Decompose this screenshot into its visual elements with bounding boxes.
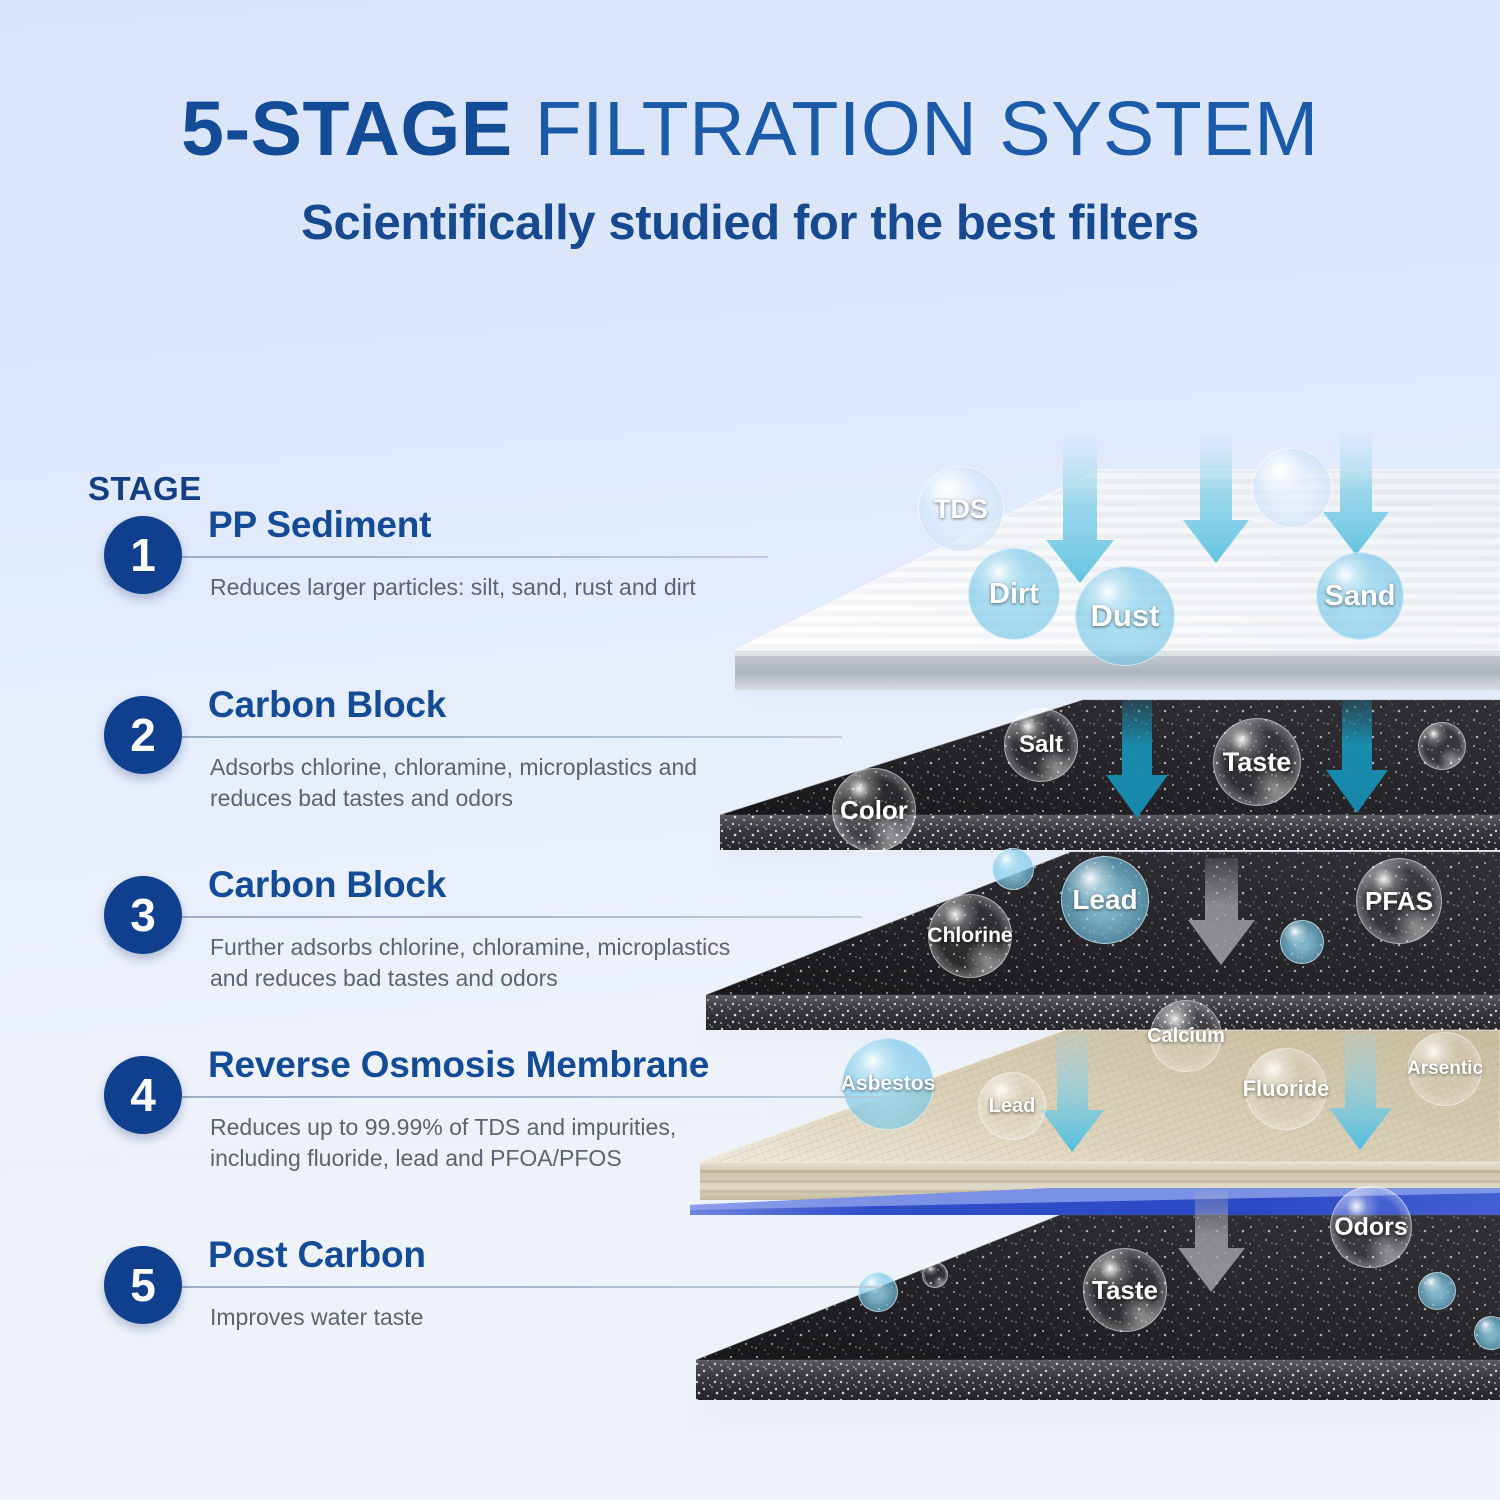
stage-number-badge-5: 5 <box>104 1246 182 1324</box>
stage-description-5: Improves water taste <box>210 1302 423 1333</box>
stage-divider-1 <box>182 556 768 558</box>
flow-arrow-into-stage4-b <box>1329 1034 1392 1150</box>
stage-item-4[interactable]: 4 Reverse Osmosis Membrane Reduces up to… <box>0 1056 900 1206</box>
stage-divider-2 <box>182 736 842 738</box>
infographic-canvas: 5-STAGE FILTRATION SYSTEM Scientifically… <box>0 0 1500 1500</box>
stage-number-badge-2: 2 <box>104 696 182 774</box>
stage-description-2: Adsorbs chlorine, chloramine, microplast… <box>210 752 697 814</box>
stage-title-5: Post Carbon <box>208 1234 426 1276</box>
decorative-bubble-layer5-c <box>1418 1272 1456 1310</box>
title-main: 5-STAGE FILTRATION SYSTEM <box>0 86 1500 172</box>
flow-arrow-into-stage3 <box>1188 858 1255 965</box>
stage-divider-4 <box>182 1096 882 1098</box>
stage-number-badge-4: 4 <box>104 1056 182 1134</box>
title-emphasis: 5-STAGE <box>181 86 513 172</box>
title-remainder: FILTRATION SYSTEM <box>513 86 1319 172</box>
contaminant-bubble-sand: Sand <box>1316 552 1404 640</box>
stage-word-label: STAGE <box>88 470 202 508</box>
contaminant-bubble-odors: Odors <box>1330 1186 1412 1268</box>
contaminant-bubble-lead-layer4: Lead <box>978 1072 1046 1140</box>
stage-title-4: Reverse Osmosis Membrane <box>208 1044 709 1086</box>
contaminant-bubble-dirt: Dirt <box>968 548 1060 640</box>
contaminant-bubble-dust: Dust <box>1075 566 1175 666</box>
stage-number-badge-1: 1 <box>104 516 182 594</box>
contaminant-bubble-lead-layer3: Lead <box>1061 856 1149 944</box>
flow-arrow-into-stage2-a <box>1106 700 1168 818</box>
contaminant-bubble-chlorine: Chlorine <box>928 894 1012 978</box>
decorative-bubble-layer1 <box>1252 448 1332 528</box>
decorative-bubble-layer3-a <box>992 848 1034 890</box>
contaminant-bubble-salt: Salt <box>1004 708 1078 782</box>
flow-arrow-into-stage1-a <box>1046 435 1114 583</box>
contaminant-bubble-tds: TDS <box>918 466 1004 552</box>
contaminant-bubble-arsenic: Arsentic <box>1408 1032 1482 1106</box>
contaminant-bubble-calcium: Calcium <box>1150 1000 1222 1072</box>
stage-description-4: Reduces up to 99.99% of TDS and impuriti… <box>210 1112 676 1174</box>
stage-item-2[interactable]: 2 Carbon Block Adsorbs chlorine, chloram… <box>0 696 900 846</box>
stage-divider-5 <box>182 1286 882 1288</box>
stage-number-badge-3: 3 <box>104 876 182 954</box>
stage-title-1: PP Sediment <box>208 504 431 546</box>
decorative-bubble-layer5-b <box>922 1262 948 1288</box>
contaminant-bubble-fluoride: Fluoride <box>1245 1048 1327 1130</box>
flow-arrow-into-stage4-a <box>1041 1034 1104 1152</box>
decorative-bubble-layer2 <box>1418 722 1466 770</box>
contaminant-bubble-pfas: PFAS <box>1356 858 1442 944</box>
stage-description-3: Further adsorbs chlorine, chloramine, mi… <box>210 932 730 994</box>
stage-item-3[interactable]: 3 Carbon Block Further adsorbs chlorine,… <box>0 876 900 1026</box>
contaminant-bubble-taste-layer2: Taste <box>1213 718 1301 806</box>
stage-item-5[interactable]: 5 Post Carbon Improves water taste <box>0 1246 900 1396</box>
stage-item-1[interactable]: 1 PP Sediment Reduces larger particles: … <box>0 516 900 666</box>
stage-title-3: Carbon Block <box>208 864 446 906</box>
contaminant-bubble-taste-layer5: Taste <box>1083 1248 1167 1332</box>
flow-arrow-into-stage2-b <box>1326 700 1388 813</box>
page-title: 5-STAGE FILTRATION SYSTEM Scientifically… <box>0 86 1500 252</box>
flow-arrow-into-stage1-c <box>1323 435 1389 555</box>
flow-arrow-into-stage1-b <box>1183 435 1249 563</box>
decorative-bubble-layer3-b <box>1280 920 1324 964</box>
stage-description-1: Reduces larger particles: silt, sand, ru… <box>210 572 696 603</box>
flow-arrow-into-stage5 <box>1178 1190 1245 1292</box>
stage-title-2: Carbon Block <box>208 684 446 726</box>
decorative-bubble-layer5-d <box>1474 1316 1500 1350</box>
page-subtitle: Scientifically studied for the best filt… <box>0 194 1500 252</box>
stage-divider-3 <box>182 916 862 918</box>
